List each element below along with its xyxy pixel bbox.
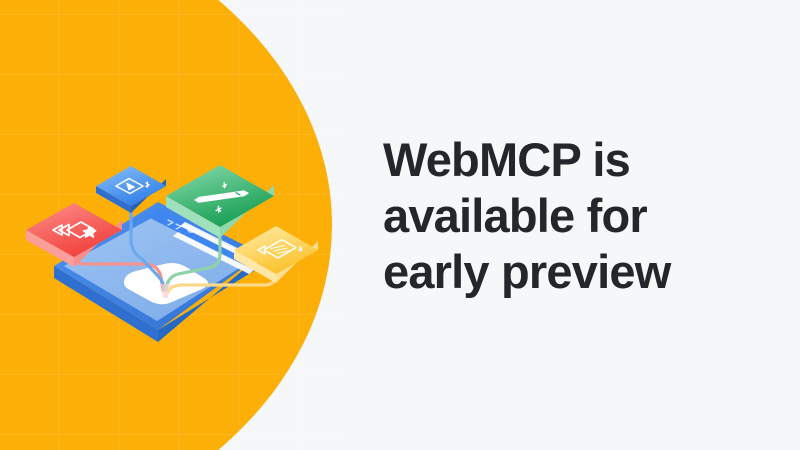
screenshot-root: WebMCP is available for early preview [0, 0, 800, 450]
page-title: WebMCP is available for early preview [383, 132, 763, 300]
webmcp-isometric-illustration [18, 78, 328, 368]
